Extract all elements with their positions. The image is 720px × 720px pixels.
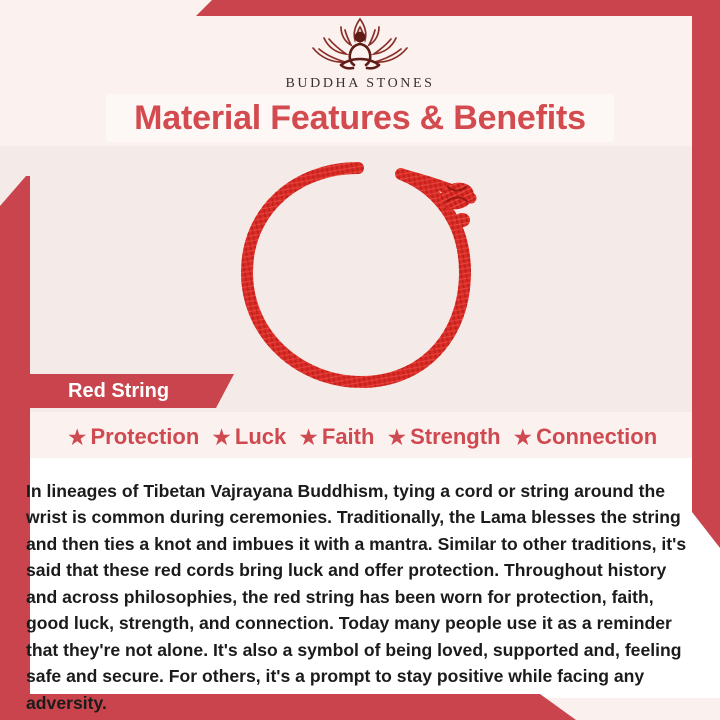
feature-item-connection: ★ Connection (509, 424, 662, 450)
brand-name: BUDDHA STONES (0, 76, 720, 92)
product-label-banner: Red String (30, 374, 234, 408)
feature-list: ★ Protection ★ Luck ★ Faith ★ Strength ★… (30, 418, 694, 456)
star-icon: ★ (67, 426, 88, 449)
red-braided-string-bracelet-icon (225, 160, 495, 390)
feature-label: Strength (410, 424, 500, 450)
feature-item-protection: ★ Protection (63, 424, 203, 450)
star-icon: ★ (386, 426, 407, 449)
star-icon: ★ (211, 426, 232, 449)
feature-item-faith: ★ Faith (294, 424, 378, 450)
feature-label: Connection (536, 424, 657, 450)
lotus-meditation-icon (301, 14, 419, 74)
feature-item-luck: ★ Luck (207, 424, 290, 450)
product-label-text: Red String (30, 374, 234, 408)
star-icon: ★ (513, 426, 534, 449)
page-title: Material Features & Benefits (106, 94, 614, 142)
feature-item-strength: ★ Strength (382, 424, 504, 450)
description-paragraph: In lineages of Tibetan Vajrayana Buddhis… (26, 478, 694, 717)
feature-label: Protection (90, 424, 199, 450)
product-image (0, 155, 720, 395)
brand-logo: BUDDHA STONES (0, 14, 720, 92)
page-title-text: Material Features & Benefits (106, 94, 614, 142)
star-icon: ★ (298, 426, 319, 449)
feature-label: Luck (235, 424, 286, 450)
infographic-page: BUDDHA STONES Material Features & Benefi… (0, 0, 720, 720)
feature-label: Faith (322, 424, 375, 450)
